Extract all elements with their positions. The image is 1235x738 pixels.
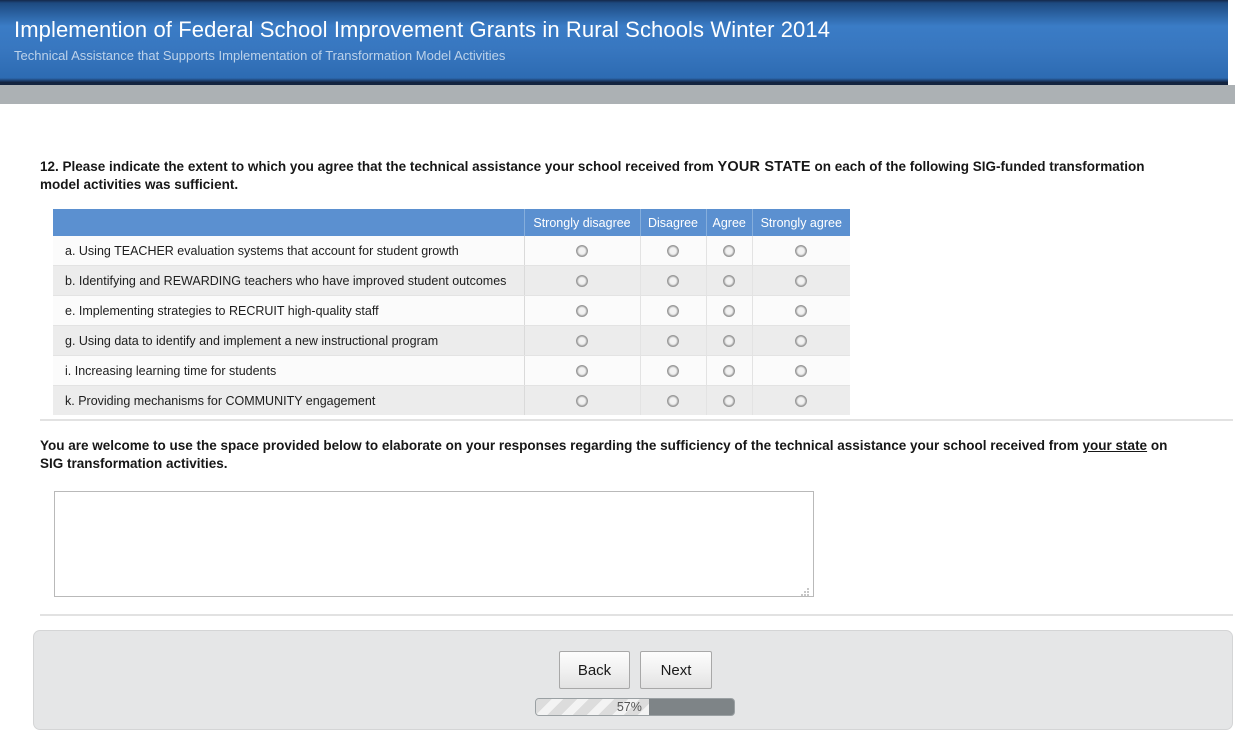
elaboration-prompt-part1: You are welcome to use the space provide…: [40, 438, 1083, 453]
matrix-cell-g-strongly-agree[interactable]: [752, 326, 850, 356]
radio-icon[interactable]: [667, 305, 679, 317]
radio-icon[interactable]: [795, 395, 807, 407]
radio-icon[interactable]: [723, 275, 735, 287]
progress-percent-label: 57%: [617, 700, 642, 714]
back-button[interactable]: Back: [559, 651, 630, 689]
radio-icon[interactable]: [795, 305, 807, 317]
radio-icon[interactable]: [576, 245, 588, 257]
radio-icon[interactable]: [667, 275, 679, 287]
matrix-header-row: Strongly disagree Disagree Agree Strongl…: [53, 209, 850, 236]
matrix-cell-i-strongly-agree[interactable]: [752, 356, 850, 386]
radio-icon[interactable]: [723, 395, 735, 407]
matrix-row-label: b. Identifying and REWARDING teachers wh…: [53, 266, 524, 296]
comment-textarea-wrapper: [54, 491, 814, 602]
radio-icon[interactable]: [576, 275, 588, 287]
question-prompt-emphasis: YOUR STATE: [717, 159, 810, 175]
table-row: e. Implementing strategies to RECRUIT hi…: [53, 296, 850, 326]
question-prompt-part1: 12. Please indicate the extent to which …: [40, 159, 717, 174]
agreement-matrix-table: Strongly disagree Disagree Agree Strongl…: [53, 209, 850, 415]
matrix-cell-i-strongly-disagree[interactable]: [524, 356, 640, 386]
banner-subtitle: Technical Assistance that Supports Imple…: [14, 48, 505, 63]
matrix-cell-g-disagree[interactable]: [640, 326, 706, 356]
matrix-cell-e-agree[interactable]: [706, 296, 752, 326]
radio-icon[interactable]: [723, 365, 735, 377]
matrix-cell-k-agree[interactable]: [706, 386, 752, 416]
matrix-header-blank: [53, 209, 524, 236]
grey-toolbar: [0, 85, 1235, 104]
matrix-cell-g-agree[interactable]: [706, 326, 752, 356]
radio-icon[interactable]: [795, 275, 807, 287]
matrix-row-label: e. Implementing strategies to RECRUIT hi…: [53, 296, 524, 326]
elaboration-prompt-emphasis: your state: [1083, 438, 1148, 453]
matrix-cell-b-strongly-agree[interactable]: [752, 266, 850, 296]
elaboration-prompt: You are welcome to use the space provide…: [40, 437, 1190, 473]
table-row: i. Increasing learning time for students: [53, 356, 850, 386]
radio-icon[interactable]: [576, 395, 588, 407]
question-prompt: 12. Please indicate the extent to which …: [40, 158, 1180, 194]
radio-icon[interactable]: [576, 335, 588, 347]
banner-title: Implemention of Federal School Improveme…: [14, 17, 830, 43]
matrix-cell-a-disagree[interactable]: [640, 236, 706, 266]
radio-icon[interactable]: [667, 395, 679, 407]
table-row: b. Identifying and REWARDING teachers wh…: [53, 266, 850, 296]
progress-bar: 57%: [535, 698, 735, 716]
radio-icon[interactable]: [667, 335, 679, 347]
matrix-row-label: g. Using data to identify and implement …: [53, 326, 524, 356]
radio-icon[interactable]: [667, 245, 679, 257]
matrix-cell-i-disagree[interactable]: [640, 356, 706, 386]
matrix-cell-b-agree[interactable]: [706, 266, 752, 296]
matrix-cell-a-agree[interactable]: [706, 236, 752, 266]
matrix-row-label: k. Providing mechanisms for COMMUNITY en…: [53, 386, 524, 416]
matrix-row-label: i. Increasing learning time for students: [53, 356, 524, 386]
matrix-cell-a-strongly-disagree[interactable]: [524, 236, 640, 266]
radio-icon[interactable]: [795, 335, 807, 347]
table-row: k. Providing mechanisms for COMMUNITY en…: [53, 386, 850, 416]
radio-icon[interactable]: [723, 245, 735, 257]
matrix-cell-b-strongly-disagree[interactable]: [524, 266, 640, 296]
matrix-cell-k-disagree[interactable]: [640, 386, 706, 416]
matrix-cell-b-disagree[interactable]: [640, 266, 706, 296]
next-button[interactable]: Next: [640, 651, 712, 689]
matrix-cell-e-strongly-disagree[interactable]: [524, 296, 640, 326]
matrix-cell-e-disagree[interactable]: [640, 296, 706, 326]
table-row: g. Using data to identify and implement …: [53, 326, 850, 356]
radio-icon[interactable]: [723, 305, 735, 317]
matrix-cell-a-strongly-agree[interactable]: [752, 236, 850, 266]
radio-icon[interactable]: [576, 365, 588, 377]
section-divider-top: [40, 419, 1233, 421]
matrix-header-strongly-disagree: Strongly disagree: [524, 209, 640, 236]
comment-textarea[interactable]: [54, 491, 814, 597]
radio-icon[interactable]: [795, 365, 807, 377]
matrix-row-label: a. Using TEACHER evaluation systems that…: [53, 236, 524, 266]
radio-icon[interactable]: [667, 365, 679, 377]
radio-icon[interactable]: [795, 245, 807, 257]
matrix-cell-k-strongly-agree[interactable]: [752, 386, 850, 416]
progress-bar-label-wrap: 57%: [536, 699, 649, 715]
page-banner: Implemention of Federal School Improveme…: [0, 0, 1228, 82]
matrix-cell-i-agree[interactable]: [706, 356, 752, 386]
matrix-cell-k-strongly-disagree[interactable]: [524, 386, 640, 416]
table-row: a. Using TEACHER evaluation systems that…: [53, 236, 850, 266]
matrix-header-strongly-agree: Strongly agree: [752, 209, 850, 236]
matrix-cell-e-strongly-agree[interactable]: [752, 296, 850, 326]
matrix-header-disagree: Disagree: [640, 209, 706, 236]
radio-icon[interactable]: [723, 335, 735, 347]
matrix-cell-g-strongly-disagree[interactable]: [524, 326, 640, 356]
radio-icon[interactable]: [576, 305, 588, 317]
banner-right-strip: [1228, 0, 1235, 82]
section-divider-bottom: [40, 614, 1233, 616]
matrix-body: a. Using TEACHER evaluation systems that…: [53, 236, 850, 415]
matrix-header-agree: Agree: [706, 209, 752, 236]
